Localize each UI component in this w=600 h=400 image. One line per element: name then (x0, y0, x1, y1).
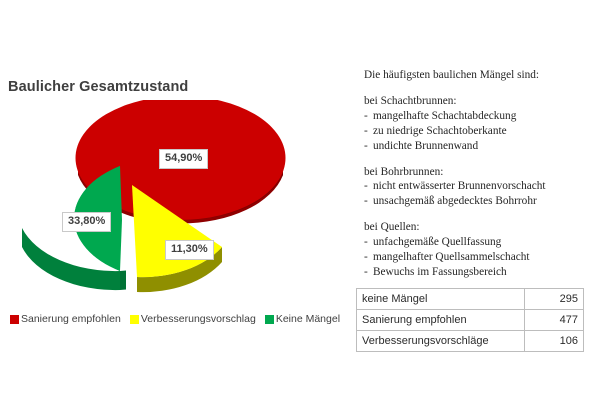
bullet-dash-icon: - (364, 265, 373, 280)
table-cell-value: 477 (525, 310, 584, 331)
slide-canvas: Baulicher Gesamtzustand (0, 0, 600, 400)
defects-bullet: - unfachgemäße Quellfassung (364, 235, 592, 250)
defects-block-quellen: bei Quellen: - unfachgemäße Quellfassung… (364, 220, 592, 280)
defects-block-schachtbrunnen: bei Schachtbrunnen: - mangelhafte Schach… (364, 94, 592, 154)
table-row: Sanierung empfohlen 477 (357, 310, 584, 331)
defects-bullet: - unsachgemäß abgedecktes Bohrrohr (364, 194, 592, 209)
pie-label-sanierung-empfohlen: 54,90% (159, 149, 208, 169)
bullet-dash-icon: - (364, 109, 373, 124)
defects-bullet-text: mangelhafte Schachtabdeckung (373, 109, 516, 124)
defects-bullet-text: nicht entwässerter Brunnenvorschacht (373, 179, 546, 194)
legend-swatch-green (265, 315, 274, 324)
defects-block-heading: bei Schachtbrunnen: (364, 94, 592, 109)
table-cell-value: 295 (525, 289, 584, 310)
defects-bullet-text: unsachgemäß abgedecktes Bohrrohr (373, 194, 537, 209)
table-row: Verbesserungsvorschläge 106 (357, 331, 584, 352)
defects-intro-text: Die häufigsten baulichen Mängel sind: (364, 68, 592, 83)
table-cell-label: Verbesserungsvorschläge (357, 331, 525, 352)
defects-bullet-text: undichte Brunnenwand (373, 139, 478, 154)
defects-bullet: - zu niedrige Schachtoberkante (364, 124, 592, 139)
pie-label-verbesserungsvorschlag: 11,30% (165, 240, 214, 260)
chart-title: Baulicher Gesamtzustand (8, 79, 188, 95)
bullet-dash-icon: - (364, 194, 373, 209)
table-cell-label: Sanierung empfohlen (357, 310, 525, 331)
legend-item-sanierung-empfohlen[interactable]: Sanierung empfohlen (10, 314, 121, 325)
defects-bullet: - mangelhafte Schachtabdeckung (364, 109, 592, 124)
pie-label-keine-maengel: 33,80% (62, 212, 111, 232)
defects-block-bohrbrunnen: bei Bohrbrunnen: - nicht entwässerter Br… (364, 165, 592, 210)
legend-label-keine-maengel: Keine Mängel (276, 314, 340, 325)
bullet-dash-icon: - (364, 139, 373, 154)
table-cell-label: keine Mängel (357, 289, 525, 310)
defects-bullet: - nicht entwässerter Brunnenvorschacht (364, 179, 592, 194)
counts-table: keine Mängel 295 Sanierung empfohlen 477… (356, 288, 584, 352)
table-row: keine Mängel 295 (357, 289, 584, 310)
defects-text-panel: Die häufigsten baulichen Mängel sind: be… (364, 68, 592, 291)
legend-label-verbesserungsvorschlag: Verbesserungsvorschlag (141, 314, 256, 325)
defects-block-heading: bei Quellen: (364, 220, 592, 235)
pie-chart-graphic (0, 100, 345, 310)
defects-bullet-text: unfachgemäße Quellfassung (373, 235, 501, 250)
bullet-dash-icon: - (364, 124, 373, 139)
pie-chart-panel: Baulicher Gesamtzustand (0, 0, 345, 400)
legend-swatch-yellow (130, 315, 139, 324)
bullet-dash-icon: - (364, 250, 373, 265)
defects-bullet-text: Bewuchs im Fassungsbereich (373, 265, 507, 280)
bullet-dash-icon: - (364, 179, 373, 194)
legend-swatch-red (10, 315, 19, 324)
legend-label-sanierung-empfohlen: Sanierung empfohlen (21, 314, 121, 325)
legend-item-keine-maengel[interactable]: Keine Mängel (265, 314, 340, 325)
defects-bullet: - Bewuchs im Fassungsbereich (364, 265, 592, 280)
chart-legend: Sanierung empfohlen Verbesserungsvorschl… (10, 314, 349, 325)
defects-bullet: - undichte Brunnenwand (364, 139, 592, 154)
defects-bullet-text: zu niedrige Schachtoberkante (373, 124, 507, 139)
table-cell-value: 106 (525, 331, 584, 352)
defects-bullet: - mangelhafter Quellsammelschacht (364, 250, 592, 265)
defects-intro-block: Die häufigsten baulichen Mängel sind: (364, 68, 592, 83)
defects-block-heading: bei Bohrbrunnen: (364, 165, 592, 180)
legend-item-verbesserungsvorschlag[interactable]: Verbesserungsvorschlag (130, 314, 256, 325)
bullet-dash-icon: - (364, 235, 373, 250)
defects-bullet-text: mangelhafter Quellsammelschacht (373, 250, 530, 265)
